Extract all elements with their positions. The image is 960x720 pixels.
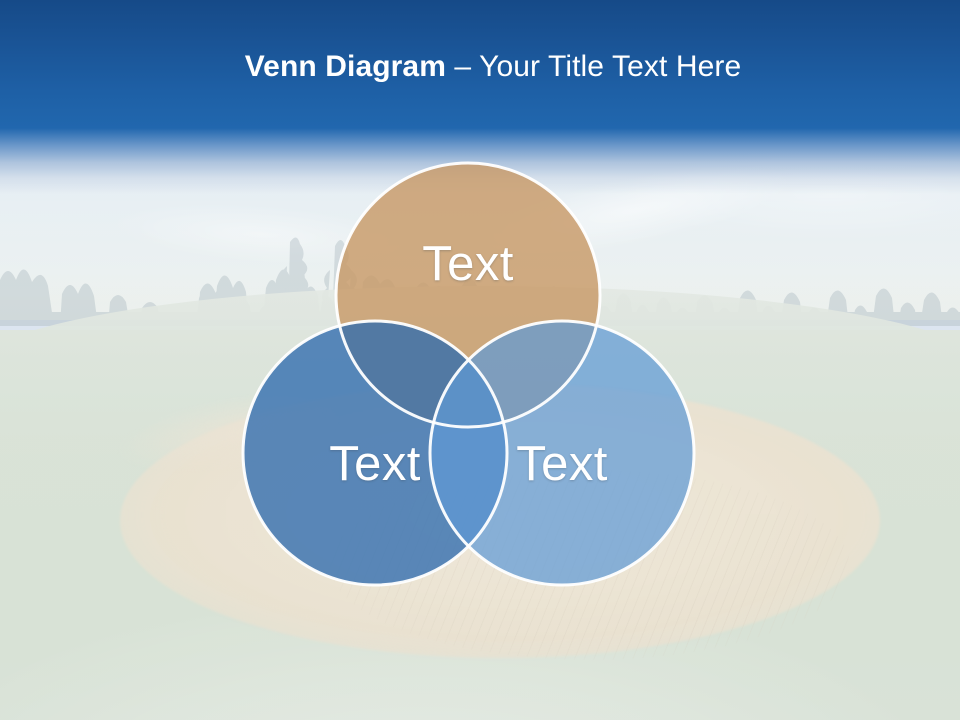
venn-label-bottom-right[interactable]: Text — [462, 440, 662, 489]
venn-label-top[interactable]: Text — [368, 240, 568, 289]
slide-canvas: Venn Diagram – Your Title Text Here Text… — [0, 0, 960, 720]
venn-svg — [0, 0, 960, 720]
venn-diagram: Text Text Text — [0, 0, 960, 720]
venn-label-bottom-left[interactable]: Text — [275, 440, 475, 489]
